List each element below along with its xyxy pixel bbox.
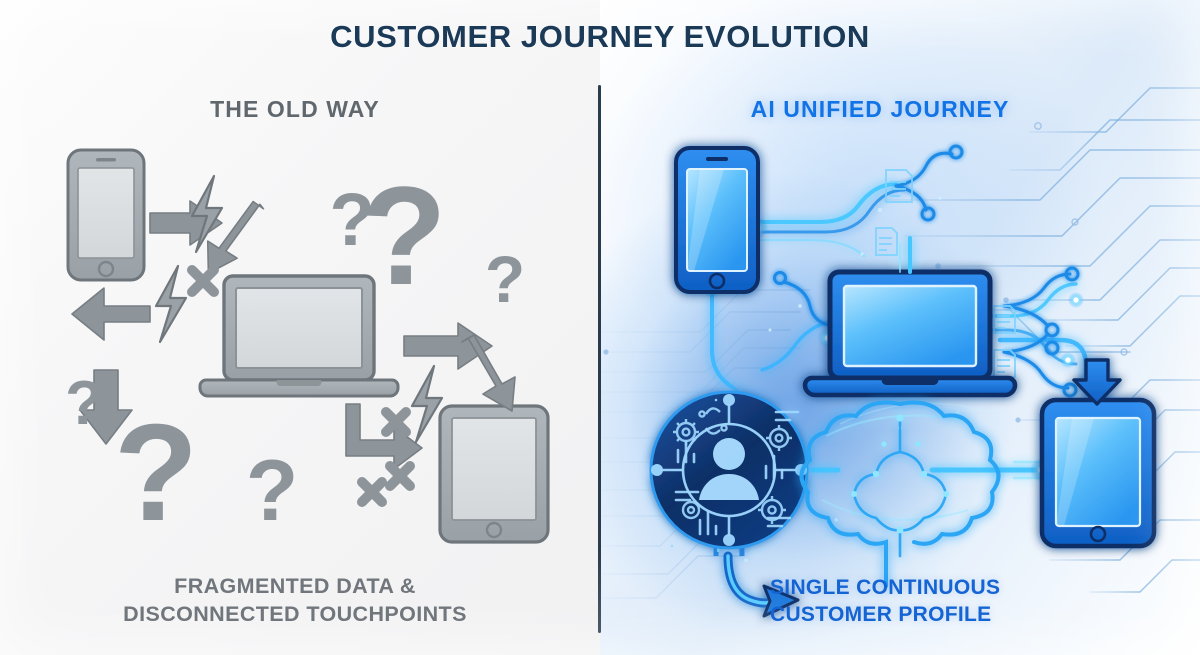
right-panel-caption: SINGLE CONTINUOUS CUSTOMER PROFILE bbox=[770, 574, 1100, 629]
left-panel-subtitle: THE OLD WAY bbox=[60, 96, 530, 123]
panel-divider bbox=[598, 85, 601, 633]
right-caption-line-2: CUSTOMER PROFILE bbox=[770, 601, 1100, 628]
right-caption-line-1: SINGLE CONTINUOUS bbox=[770, 574, 1100, 601]
left-panel-caption: FRAGMENTED DATA & DISCONNECTED TOUCHPOIN… bbox=[55, 572, 535, 629]
infographic-canvas: ? ? ? ? ? ? bbox=[0, 0, 1200, 655]
left-caption-line-2: DISCONNECTED TOUCHPOINTS bbox=[55, 600, 535, 628]
page-title: CUSTOMER JOURNEY EVOLUTION bbox=[0, 19, 1200, 55]
right-panel-subtitle: AI UNIFIED JOURNEY bbox=[640, 96, 1120, 123]
left-caption-line-1: FRAGMENTED DATA & bbox=[55, 572, 535, 600]
